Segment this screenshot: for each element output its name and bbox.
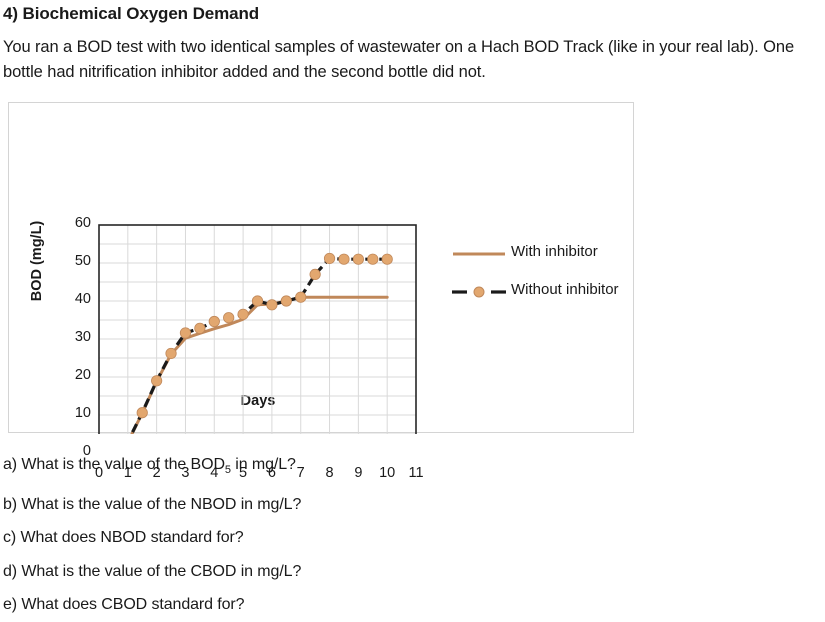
data-point-marker <box>296 292 306 302</box>
data-point-marker <box>267 300 277 310</box>
question-item: e) What does CBOD standard for? <box>3 588 603 622</box>
data-point-marker <box>180 328 190 338</box>
data-point-marker <box>223 313 233 323</box>
data-point-marker <box>368 254 378 264</box>
data-point-marker <box>281 296 291 306</box>
data-point-marker <box>151 376 161 386</box>
legend-key-dashed-marker <box>449 273 509 311</box>
chart-container: BOD (mg/L) 0102030405060 01234567891011 … <box>8 102 634 433</box>
question-text: a) What is the value of the BOD <box>3 456 225 473</box>
data-point-marker <box>310 269 320 279</box>
legend-label-with-inhibitor: With inhibitor <box>511 243 598 260</box>
question-item: c) What does NBOD standard for? <box>3 521 603 555</box>
legend-label-without-inhibitor: Without inhibitor <box>511 281 619 298</box>
page-title: 4) Biochemical Oxygen Demand <box>3 4 259 24</box>
legend-item-with-inhibitor: With inhibitor <box>449 235 635 273</box>
question-item: b) What is the value of the NBOD in mg/L… <box>3 488 603 522</box>
chart-legend: With inhibitor Without inhibitor <box>449 235 635 311</box>
legend-item-without-inhibitor: Without inhibitor <box>449 273 635 311</box>
question-text-suffix: in mg/L? <box>231 456 296 473</box>
data-point-marker <box>209 316 219 326</box>
data-point-marker <box>382 254 392 264</box>
intro-paragraph: You ran a BOD test with two identical sa… <box>3 35 821 85</box>
plot-area-wrapper: BOD (mg/L) 0102030405060 01234567891011 … <box>9 103 449 434</box>
question-item: a) What is the value of the BOD5 in mg/L… <box>3 448 603 488</box>
question-list: a) What is the value of the BOD5 in mg/L… <box>3 448 603 622</box>
data-point-marker <box>238 309 248 319</box>
data-point-marker <box>324 253 334 263</box>
data-point-marker <box>252 296 262 306</box>
data-point-marker <box>137 408 147 418</box>
data-point-marker <box>166 348 176 358</box>
data-point-marker <box>339 254 349 264</box>
data-point-marker <box>195 323 205 333</box>
question-item: d) What is the value of the CBOD in mg/L… <box>3 555 603 589</box>
chart-plot <box>9 103 449 434</box>
legend-key-solid-line <box>449 235 509 273</box>
worksheet-page: 4) Biochemical Oxygen Demand You ran a B… <box>0 0 825 614</box>
data-point-marker <box>353 254 363 264</box>
